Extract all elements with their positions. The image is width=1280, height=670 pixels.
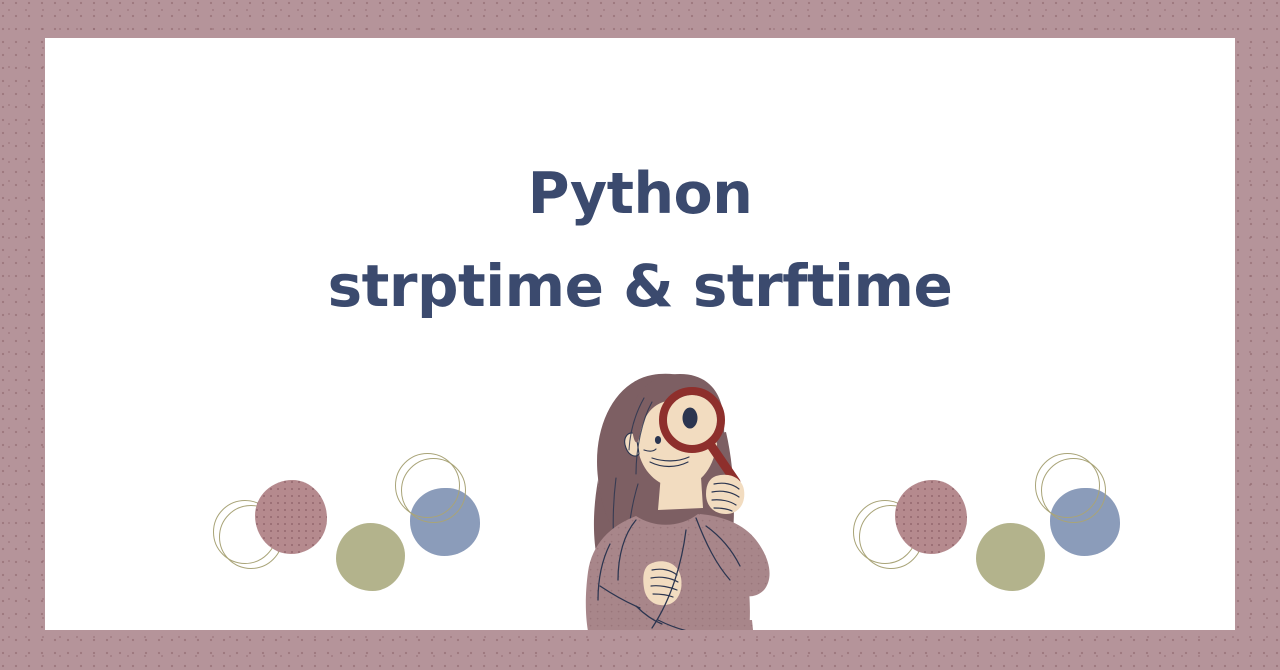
decor-blob-rose <box>255 480 327 554</box>
woman-with-magnifying-glass-illustration: Illustration of a woman with long hair h… <box>540 358 830 630</box>
title-line-2: strptime & strftime <box>45 257 1235 315</box>
poster-card: Python strptime & strftime Illustration … <box>45 38 1235 630</box>
decor-blob-sage <box>336 523 405 591</box>
eye-left <box>655 436 661 444</box>
title-line-1: Python <box>45 166 1235 223</box>
page-title: Python strptime & strftime <box>45 166 1235 315</box>
decor-blob-sage <box>976 523 1045 591</box>
decor-ring-outline-icon <box>1041 458 1106 523</box>
poster-frame: Python strptime & strftime Illustration … <box>0 0 1280 670</box>
decor-ring-outline-icon <box>401 458 466 523</box>
decor-blob-rose <box>895 480 967 554</box>
decor-cluster-left <box>205 448 495 608</box>
decor-cluster-right <box>845 448 1135 608</box>
